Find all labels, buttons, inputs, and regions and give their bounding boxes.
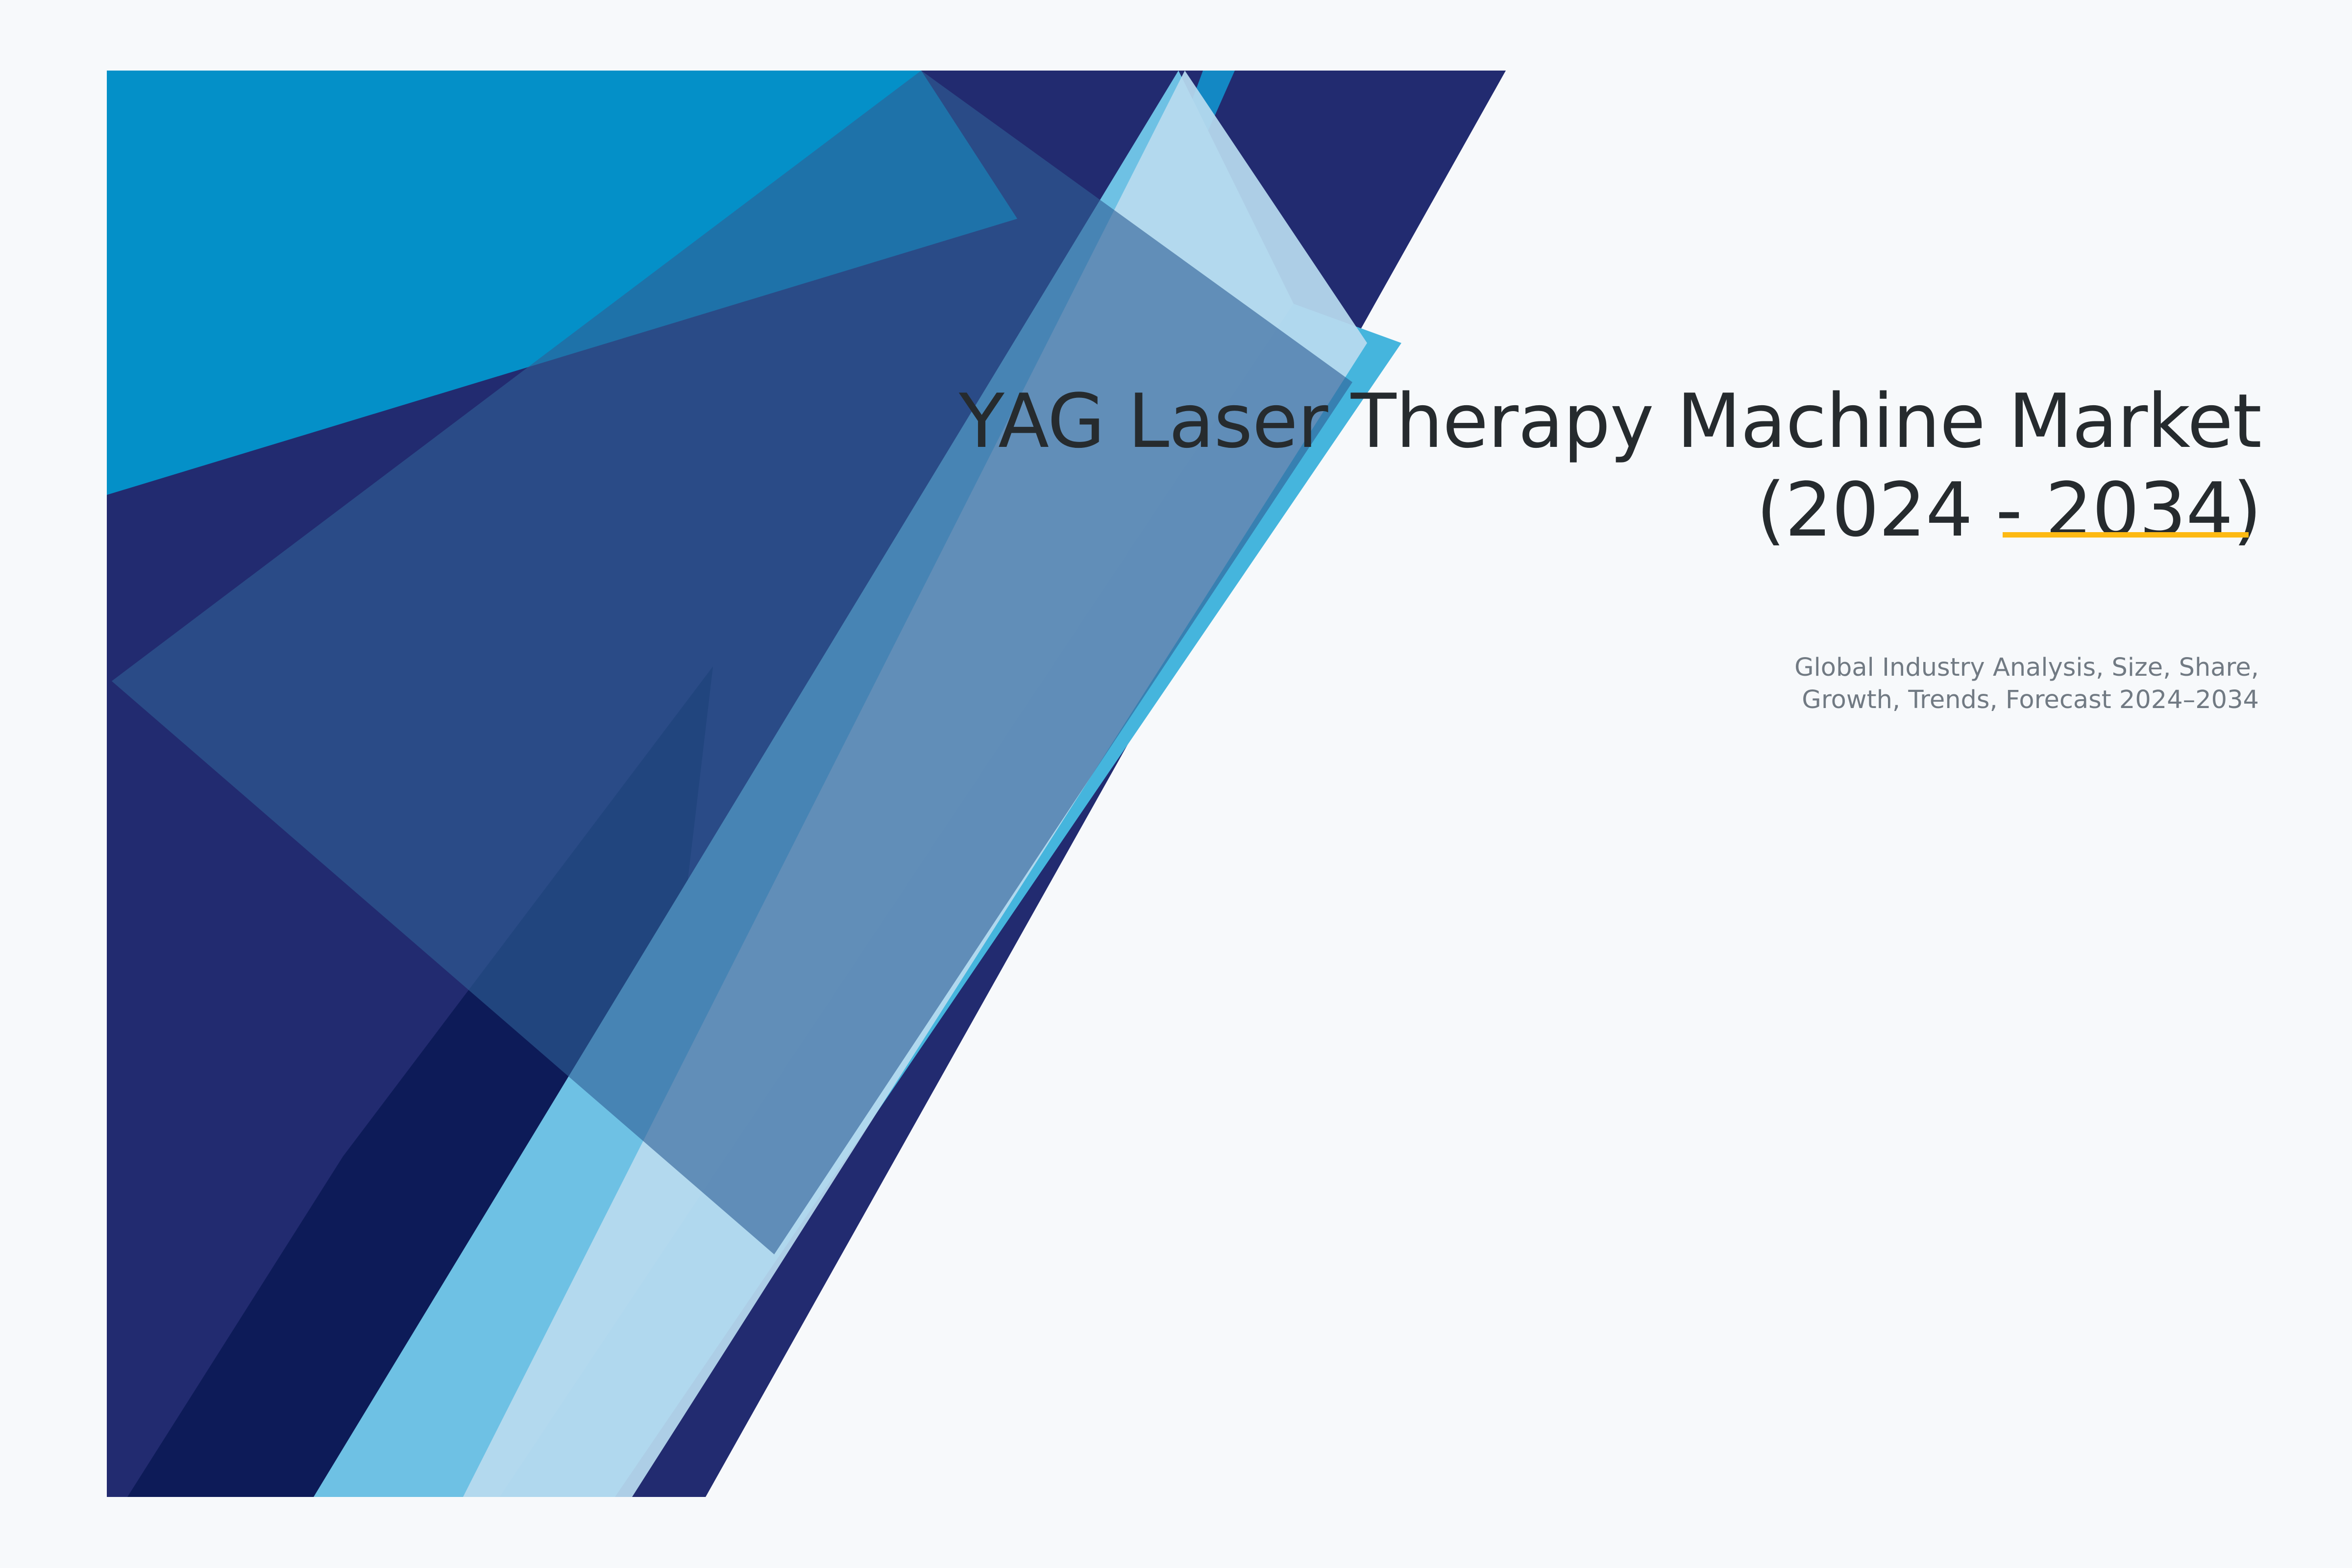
report-cover-page: YAG Laser Therapy Machine Market (2024 -… xyxy=(0,0,2352,1568)
title-block: YAG Laser Therapy Machine Market (2024 -… xyxy=(840,377,2261,555)
page-title: YAG Laser Therapy Machine Market (2024 -… xyxy=(840,377,2261,555)
abstract-polygon-artwork xyxy=(0,0,2352,1568)
subtitle-block: Global Industry Analysis, Size, Share, G… xyxy=(1181,652,2259,717)
title-accent-underline xyxy=(2003,532,2249,538)
page-subtitle: Global Industry Analysis, Size, Share, G… xyxy=(1181,652,2259,717)
